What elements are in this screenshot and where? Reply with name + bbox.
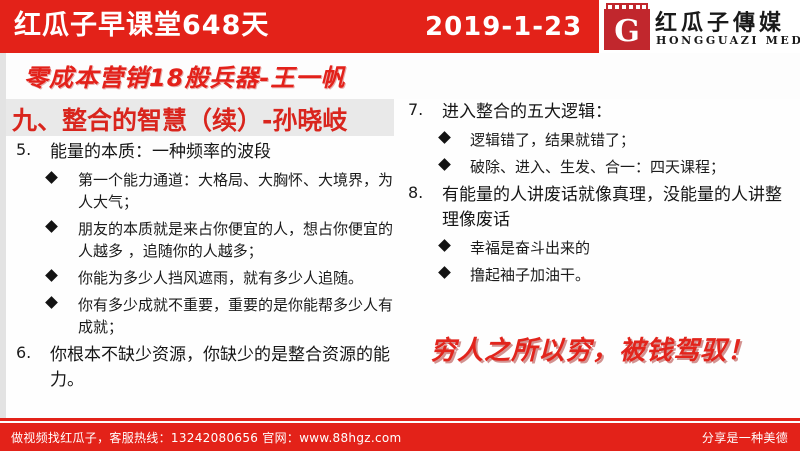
section-heading: 九、整合的智慧（续）-孙晓岐 [12,101,347,137]
bullet-item: 你能为多少人挡风遮雨，就有多少人追随。 [6,267,398,289]
content-column-left: 5. 能量的本质：一种频率的波段 第一个能力通道：大格局、大胸怀、大境界，为人大… [6,140,398,397]
item-number: 6. [16,343,40,362]
course-subtitle: 零成本营销18般兵器-王一帆 [24,58,345,93]
bullet-item: 第一个能力通道：大格局、大胸怀、大境界，为人大气； [6,169,398,213]
bullet-item: 撸起袖子加油干。 [400,264,796,286]
diamond-bullet-icon [45,171,58,184]
footer-divider [0,418,800,421]
content-column-right: 7. 进入整合的五大逻辑： 逻辑错了，结果就错了； 破除、进入、生发、合一：四天… [400,100,796,291]
bullet-text: 第一个能力通道：大格局、大胸怀、大境界，为人大气； [78,171,393,211]
footer-tagline: 分享是一种美德 [702,429,788,446]
bullet-item: 朋友的本质就是来占你便宜的人，想占你便宜的人越多 ，追随你的人越多； [6,218,398,262]
bullet-item: 你有多少成就不重要，重要的是你能帮多少人有成就； [6,294,398,338]
bullet-text: 你能为多少人挡风遮雨，就有多少人追随。 [78,269,363,287]
item-number: 7. [408,100,432,119]
bullet-text: 朋友的本质就是来占你便宜的人，想占你便宜的人越多 ，追随你的人越多； [78,220,393,260]
bullet-item: 逻辑错了，结果就错了； [400,129,796,151]
slide-header: 红瓜子早课堂648天 2019-1-23 G 红瓜子傳媒 HONGGUAZI M… [0,0,800,53]
diamond-bullet-icon [438,266,451,279]
header-date: 2019-1-23 [425,7,582,47]
page-title: 红瓜子早课堂648天 [14,6,269,46]
bullet-list: 第一个能力通道：大格局、大胸怀、大境界，为人大气； 朋友的本质就是来占你便宜的人… [6,169,398,338]
bullet-item: 幸福是奋斗出来的 [400,237,796,259]
diamond-bullet-icon [438,239,451,252]
footer-contact-text: 做视频找红瓜子，客服热线：13242080656 官网：www.88hgz.co… [11,429,402,446]
list-item: 6. 你根本不缺少资源，你缺少的是整合资源的能力。 [6,343,398,393]
bullet-text: 幸福是奋斗出来的 [470,239,590,257]
diamond-bullet-icon [45,296,58,309]
diamond-bullet-icon [45,220,58,233]
brand-name-cn: 红瓜子傳媒 [655,5,785,37]
item-number: 8. [408,183,432,202]
item-text: 能量的本质：一种频率的波段 [50,140,398,165]
bullet-text: 你有多少成就不重要，重要的是你能帮多少人有成就； [78,296,393,336]
bullet-list: 逻辑错了，结果就错了； 破除、进入、生发、合一：四天课程； [400,129,796,178]
brand-name-en: HONGGUAZI MEDIA [656,34,800,47]
bullet-text: 逻辑错了，结果就错了； [470,131,635,149]
logo-letter-g: G [612,16,642,47]
diamond-bullet-icon [45,269,58,282]
bullet-item: 破除、进入、生发、合一：四天课程； [400,156,796,178]
brand-logo-icon: G [604,3,650,50]
bullet-text: 撸起袖子加油干。 [470,266,590,284]
list-item: 5. 能量的本质：一种频率的波段 [6,140,398,165]
slide-canvas: 红瓜子早课堂648天 2019-1-23 G 红瓜子傳媒 HONGGUAZI M… [0,0,800,451]
item-text: 进入整合的五大逻辑： [442,100,796,125]
bullet-text: 破除、进入、生发、合一：四天课程； [470,158,725,176]
diamond-bullet-icon [438,131,451,144]
bullet-list: 幸福是奋斗出来的 撸起袖子加油干。 [400,237,796,286]
diamond-bullet-icon [438,158,451,171]
item-text: 你根本不缺少资源，你缺少的是整合资源的能力。 [50,343,398,393]
highlight-slogan: 穷人之所以穷，被钱驾驭！ [430,330,754,367]
item-number: 5. [16,140,40,159]
list-item: 8. 有能量的人讲废话就像真理，没能量的人讲整理像废话 [400,183,796,233]
item-text: 有能量的人讲废话就像真理，没能量的人讲整理像废话 [442,183,796,233]
list-item: 7. 进入整合的五大逻辑： [400,100,796,125]
